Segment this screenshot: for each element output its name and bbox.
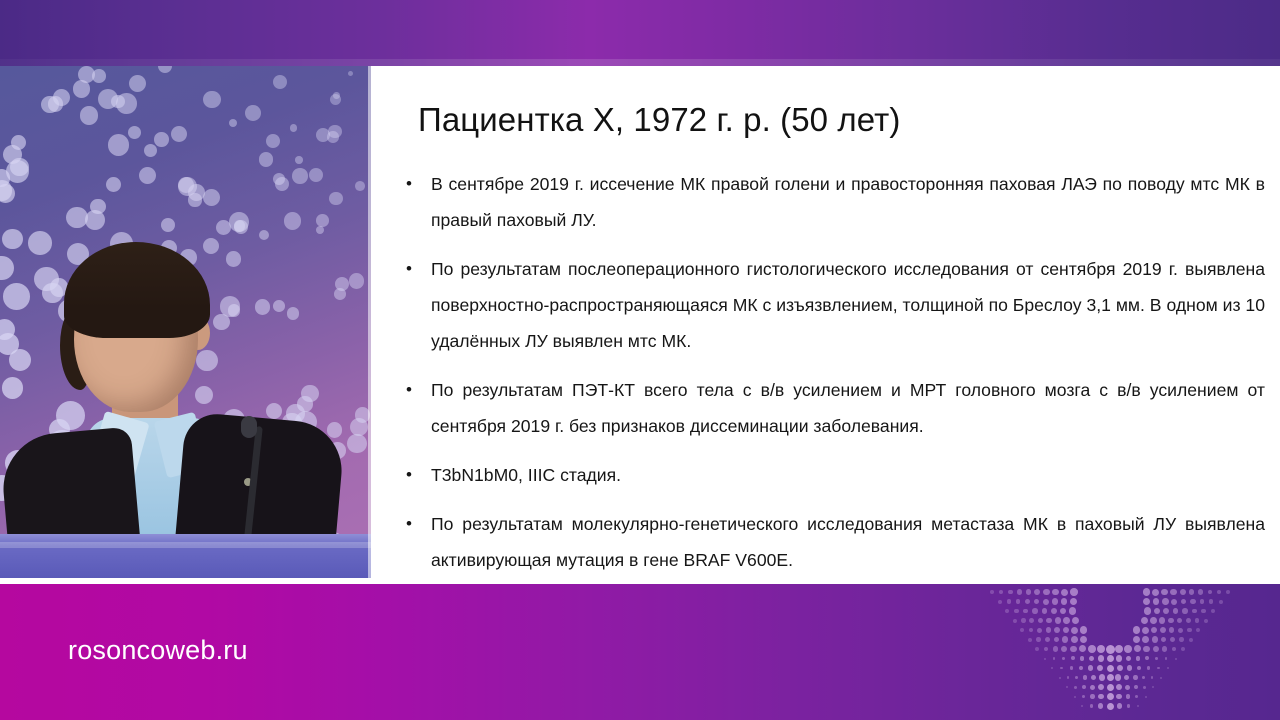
halftone-dot bbox=[1219, 600, 1223, 604]
halftone-dot bbox=[1143, 598, 1150, 605]
halftone-dot bbox=[1080, 626, 1088, 634]
halftone-dot bbox=[1034, 589, 1040, 595]
top-brand-bar bbox=[0, 0, 1280, 66]
halftone-dot bbox=[1074, 696, 1076, 698]
halftone-dot bbox=[1200, 599, 1205, 604]
halftone-dot bbox=[1080, 636, 1087, 643]
halftone-dot bbox=[1075, 676, 1079, 680]
halftone-dot bbox=[1150, 617, 1157, 624]
halftone-dot bbox=[1143, 588, 1151, 596]
podium-desk-highlight bbox=[0, 542, 371, 548]
halftone-dot bbox=[1161, 589, 1168, 596]
halftone-dot bbox=[1026, 589, 1032, 595]
halftone-dot bbox=[1070, 646, 1077, 653]
halftone-dot bbox=[1144, 607, 1151, 614]
halftone-dot bbox=[1172, 647, 1177, 652]
halftone-dot bbox=[1116, 655, 1122, 661]
halftone-dot bbox=[1133, 675, 1138, 680]
halftone-dot bbox=[1037, 628, 1042, 633]
halftone-dot bbox=[1147, 666, 1151, 670]
bullet-item: По результатам ПЭТ-КТ всего тела с в/в у… bbox=[401, 372, 1265, 444]
halftone-dot bbox=[1136, 656, 1141, 661]
halftone-dot bbox=[1127, 704, 1131, 708]
halftone-dot bbox=[1201, 609, 1206, 614]
halftone-dot bbox=[1186, 618, 1191, 623]
halftone-dot bbox=[1020, 628, 1024, 632]
halftone-dot bbox=[1099, 674, 1105, 680]
halftone-dot bbox=[1054, 627, 1060, 633]
top-bar-sheen bbox=[0, 59, 1280, 66]
halftone-dot bbox=[1080, 656, 1085, 661]
halftone-dot bbox=[1135, 695, 1138, 698]
halftone-dot bbox=[1159, 617, 1165, 623]
halftone-dot bbox=[1154, 608, 1161, 615]
halftone-dot bbox=[1195, 618, 1200, 623]
halftone-dot bbox=[1170, 589, 1176, 595]
halftone-dot bbox=[1090, 704, 1094, 708]
halftone-dot bbox=[1071, 656, 1075, 660]
bullet-list: В сентябре 2019 г. иссечение МК правой г… bbox=[401, 166, 1265, 578]
halftone-dot bbox=[1106, 645, 1115, 654]
halftone-dot bbox=[1097, 645, 1105, 653]
halftone-dot bbox=[1162, 598, 1169, 605]
halftone-dot bbox=[1005, 609, 1009, 613]
halftone-dot bbox=[1043, 589, 1049, 595]
halftone-dot bbox=[1014, 609, 1019, 614]
halftone-dot bbox=[1198, 589, 1203, 594]
halftone-dot bbox=[1079, 666, 1084, 671]
halftone-dot bbox=[1061, 646, 1067, 652]
halftone-dot bbox=[1169, 627, 1175, 633]
halftone-dot bbox=[1171, 599, 1177, 605]
halftone-dot bbox=[1066, 686, 1068, 688]
microphone-icon bbox=[241, 416, 257, 438]
halftone-dot bbox=[1044, 658, 1046, 660]
halftone-dot bbox=[1115, 674, 1121, 680]
speaker-video-panel[interactable] bbox=[0, 66, 371, 578]
halftone-dot bbox=[1142, 676, 1146, 680]
halftone-dot bbox=[1192, 609, 1197, 614]
halftone-dot bbox=[1052, 589, 1059, 596]
halftone-dot bbox=[1034, 599, 1040, 605]
halftone-dot bbox=[1017, 589, 1022, 594]
slide-content-area: Пациентка X, 1972 г. р. (50 лет) В сентя… bbox=[371, 66, 1280, 584]
halftone-dot bbox=[1098, 694, 1104, 700]
halftone-dot bbox=[1070, 588, 1078, 596]
halftone-dot bbox=[1053, 657, 1056, 660]
halftone-dot bbox=[998, 600, 1002, 604]
halftone-dot bbox=[1107, 703, 1114, 710]
halftone-dot bbox=[1143, 646, 1150, 653]
halftone-dot bbox=[1152, 636, 1158, 642]
halftone-dot bbox=[1071, 627, 1078, 634]
halftone-dot bbox=[1126, 694, 1131, 699]
halftone-dot bbox=[1160, 677, 1162, 679]
halftone-dot bbox=[1175, 658, 1177, 660]
halftone-dot bbox=[1160, 627, 1166, 633]
halftone-dot bbox=[1117, 665, 1123, 671]
halftone-dot bbox=[1165, 657, 1168, 660]
halftone-dot bbox=[1145, 696, 1147, 698]
halftone-dot bbox=[1124, 645, 1132, 653]
halftone-dot bbox=[1071, 636, 1078, 643]
halftone-dot bbox=[1036, 637, 1041, 642]
halftone-dot bbox=[1181, 647, 1185, 651]
halftone-dot bbox=[1082, 695, 1085, 698]
halftone-dot bbox=[1028, 638, 1032, 642]
halftone-dot bbox=[1070, 598, 1077, 605]
halftone-dot bbox=[1016, 599, 1021, 604]
halftone-dot bbox=[1023, 609, 1028, 614]
halftone-dot bbox=[1157, 667, 1160, 670]
bullet-item: По результатам молекулярно-генетического… bbox=[401, 506, 1265, 578]
halftone-dot bbox=[1124, 675, 1129, 680]
halftone-dot bbox=[1061, 598, 1068, 605]
halftone-dot bbox=[1088, 665, 1093, 670]
halftone-dot bbox=[1133, 626, 1141, 634]
halftone-dot bbox=[1107, 655, 1114, 662]
halftone-dot bbox=[1167, 667, 1169, 669]
halftone-dot bbox=[1051, 608, 1057, 614]
halftone-dot bbox=[1098, 703, 1103, 708]
halftone-dot bbox=[1098, 684, 1104, 690]
halftone-dot bbox=[990, 590, 994, 594]
halftone-dot bbox=[1168, 618, 1174, 624]
halftone-dot bbox=[1116, 694, 1122, 700]
halftone-dot bbox=[1145, 656, 1149, 660]
halftone-dot bbox=[1090, 685, 1095, 690]
halftone-dot bbox=[1088, 645, 1096, 653]
halftone-dot bbox=[1189, 638, 1193, 642]
halftone-dot bbox=[1069, 607, 1076, 614]
halftone-dot bbox=[1038, 618, 1043, 623]
halftone-dot bbox=[1181, 599, 1187, 605]
halftone-dot bbox=[1182, 608, 1187, 613]
halftone-dot bbox=[1046, 627, 1052, 633]
halftone-dot bbox=[1107, 684, 1114, 691]
halftone-dot bbox=[1126, 656, 1132, 662]
halftone-dot bbox=[1153, 598, 1160, 605]
halftone-dot bbox=[1208, 590, 1213, 595]
halftone-dot bbox=[1042, 608, 1048, 614]
halftone-dot bbox=[1180, 589, 1186, 595]
halftone-dot bbox=[1151, 627, 1158, 634]
halftone-dot bbox=[1070, 666, 1074, 670]
bullet-item: T3bN1bM0, IIIC стадия. bbox=[401, 457, 1265, 493]
halftone-dot bbox=[1107, 674, 1114, 681]
halftone-dot bbox=[1025, 599, 1030, 604]
site-url-label[interactable]: rosoncoweb.ru bbox=[68, 635, 248, 666]
halftone-dot bbox=[1051, 667, 1053, 669]
halftone-dot bbox=[1217, 590, 1221, 594]
halftone-dot bbox=[1211, 609, 1215, 613]
halftone-dot bbox=[1152, 589, 1159, 596]
halftone-dot bbox=[1134, 645, 1141, 652]
halftone-dot bbox=[1107, 665, 1114, 672]
halftone-dot bbox=[1179, 637, 1184, 642]
halftone-dot bbox=[1060, 608, 1067, 615]
halftone-dot bbox=[1115, 645, 1123, 653]
halftone-dot bbox=[1062, 636, 1068, 642]
halftone-dot bbox=[1044, 647, 1049, 652]
halftone-dot bbox=[1163, 608, 1169, 614]
halftone-dot bbox=[1127, 665, 1132, 670]
halftone-dot bbox=[1107, 693, 1114, 700]
halftone-dot bbox=[1178, 628, 1183, 633]
halftone-dot bbox=[1226, 590, 1230, 594]
page-title: Пациентка X, 1972 г. р. (50 лет) bbox=[418, 100, 900, 140]
halftone-dot bbox=[1204, 619, 1208, 623]
podium-desk bbox=[0, 534, 371, 578]
bullet-item: По результатам послеоперационного гистол… bbox=[401, 251, 1265, 359]
halftone-dot bbox=[1060, 667, 1063, 670]
halftone-dot bbox=[1007, 599, 1011, 603]
halftone-dot bbox=[1063, 617, 1070, 624]
halftone-dot bbox=[1054, 637, 1060, 643]
halftone-dot bbox=[1152, 686, 1154, 688]
halftone-dot bbox=[1061, 589, 1068, 596]
halftone-dot bbox=[1059, 677, 1061, 679]
halftone-dot bbox=[1209, 599, 1213, 603]
halftone-dot bbox=[1125, 685, 1130, 690]
halftone-dot bbox=[1046, 618, 1052, 624]
halftone-dot bbox=[1189, 589, 1195, 595]
halftone-dot bbox=[1089, 656, 1095, 662]
halftone-dot bbox=[1072, 617, 1079, 624]
halftone-dot bbox=[1170, 637, 1175, 642]
halftone-dot bbox=[1032, 608, 1037, 613]
halftone-dot bbox=[1151, 676, 1154, 679]
halftone-dot bbox=[1173, 608, 1179, 614]
hair bbox=[64, 242, 210, 338]
halftone-dot bbox=[1098, 655, 1104, 661]
halftone-dot bbox=[1142, 636, 1149, 643]
halftone-dot bbox=[1153, 646, 1159, 652]
halftone-dot bbox=[1090, 694, 1095, 699]
halftone-dot bbox=[1116, 684, 1122, 690]
halftone-dot bbox=[1196, 628, 1200, 632]
bullet-item: В сентябре 2019 г. иссечение МК правой г… bbox=[401, 166, 1265, 238]
halftone-dot bbox=[1063, 627, 1070, 634]
halftone-dot bbox=[1074, 686, 1077, 689]
halftone-dot bbox=[1143, 686, 1146, 689]
halftone-dot bbox=[1045, 637, 1050, 642]
halftone-dot bbox=[1082, 685, 1086, 689]
halftone-dot bbox=[1155, 657, 1158, 660]
halftone-dot bbox=[1013, 619, 1017, 623]
halftone-dot bbox=[1137, 666, 1142, 671]
halftone-dot bbox=[1021, 618, 1026, 623]
halftone-dot bbox=[1029, 628, 1034, 633]
halftone-dot bbox=[1029, 618, 1034, 623]
halftone-dot bbox=[1187, 628, 1192, 633]
halftone-dot bbox=[1177, 618, 1182, 623]
halftone-dot bbox=[1137, 705, 1139, 707]
halftone-dot bbox=[1162, 646, 1167, 651]
halftone-dot bbox=[1062, 657, 1065, 660]
halftone-dot bbox=[1008, 590, 1013, 595]
halftone-dot bbox=[1134, 685, 1138, 689]
halftone-dot bbox=[1079, 645, 1086, 652]
halftone-dot bbox=[1052, 598, 1059, 605]
halftone-dot bbox=[1141, 617, 1148, 624]
halftone-dot bbox=[1133, 636, 1140, 643]
halftone-dot bbox=[1081, 705, 1083, 707]
halftone-dot bbox=[1067, 676, 1070, 679]
halftone-dot bbox=[1083, 675, 1088, 680]
halftone-dot bbox=[1190, 599, 1195, 604]
halftone-dot bbox=[1043, 599, 1049, 605]
speaker-figure bbox=[0, 66, 371, 578]
halftone-dot bbox=[1117, 703, 1122, 708]
halftone-dot bbox=[1142, 627, 1149, 634]
halftone-dot bbox=[1091, 675, 1096, 680]
presentation-screen: Пациентка X, 1972 г. р. (50 лет) В сентя… bbox=[0, 0, 1280, 720]
halftone-dot bbox=[1055, 617, 1061, 623]
halftone-dot bbox=[999, 590, 1003, 594]
halftone-dot bbox=[1097, 665, 1103, 671]
halftone-dot bbox=[1161, 637, 1167, 643]
halftone-dot bbox=[1053, 646, 1058, 651]
halftone-dot bbox=[1035, 647, 1039, 651]
